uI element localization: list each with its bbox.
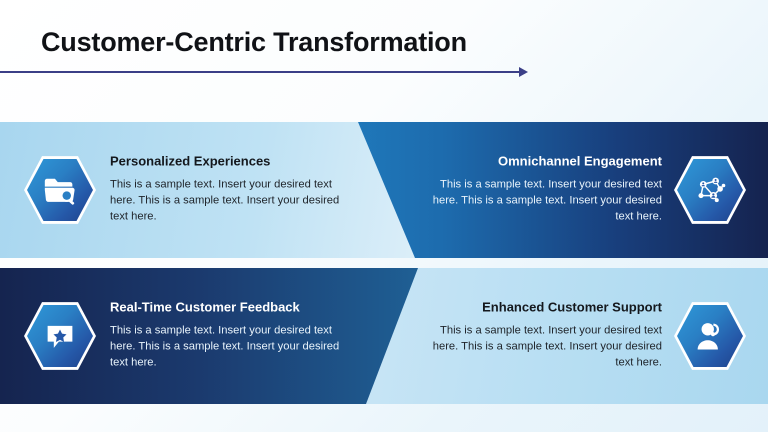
panel-heading: Omnichannel Engagement — [416, 154, 662, 168]
panel-text-real-time-customer-feedback: Real-Time Customer Feedback This is a sa… — [110, 300, 355, 371]
page-title: Customer-Centric Transformation — [41, 27, 467, 58]
top-band: Personalized Experiences This is a sampl… — [0, 122, 768, 258]
panel-personalized-experiences[interactable]: Personalized Experiences This is a sampl… — [0, 122, 384, 258]
network-nodes-icon — [674, 154, 746, 226]
panel-text-personalized-experiences: Personalized Experiences This is a sampl… — [110, 154, 355, 225]
panel-body: This is a sample text. Insert your desir… — [416, 178, 662, 226]
hex-badge-real-time-customer-feedback — [24, 300, 96, 372]
panel-omnichannel-engagement[interactable]: Omnichannel Engagement This is a sample … — [384, 122, 768, 258]
panel-heading: Enhanced Customer Support — [416, 300, 662, 314]
folder-search-icon — [24, 154, 96, 226]
panel-text-enhanced-customer-support: Enhanced Customer Support This is a samp… — [416, 300, 662, 371]
panel-enhanced-customer-support[interactable]: Enhanced Customer Support This is a samp… — [384, 268, 768, 404]
slide-canvas: Customer-Centric Transformation — [0, 0, 768, 432]
title-block: Customer-Centric Transformation — [0, 0, 768, 120]
panel-body: This is a sample text. Insert your desir… — [110, 324, 355, 372]
title-underline-rule — [0, 71, 522, 73]
bottom-band: Real-Time Customer Feedback This is a sa… — [0, 268, 768, 404]
panel-text-omnichannel-engagement: Omnichannel Engagement This is a sample … — [416, 154, 662, 225]
panel-body: This is a sample text. Insert your desir… — [110, 178, 355, 226]
panel-heading: Personalized Experiences — [110, 154, 355, 168]
headset-agent-icon — [674, 300, 746, 372]
hex-badge-enhanced-customer-support — [674, 300, 746, 372]
title-arrowhead-icon — [519, 67, 528, 77]
hex-badge-personalized-experiences — [24, 154, 96, 226]
panel-heading: Real-Time Customer Feedback — [110, 300, 355, 314]
speech-bubble-star-icon — [24, 300, 96, 372]
panel-body: This is a sample text. Insert your desir… — [416, 324, 662, 372]
hex-badge-omnichannel-engagement — [674, 154, 746, 226]
panel-real-time-customer-feedback[interactable]: Real-Time Customer Feedback This is a sa… — [0, 268, 384, 404]
